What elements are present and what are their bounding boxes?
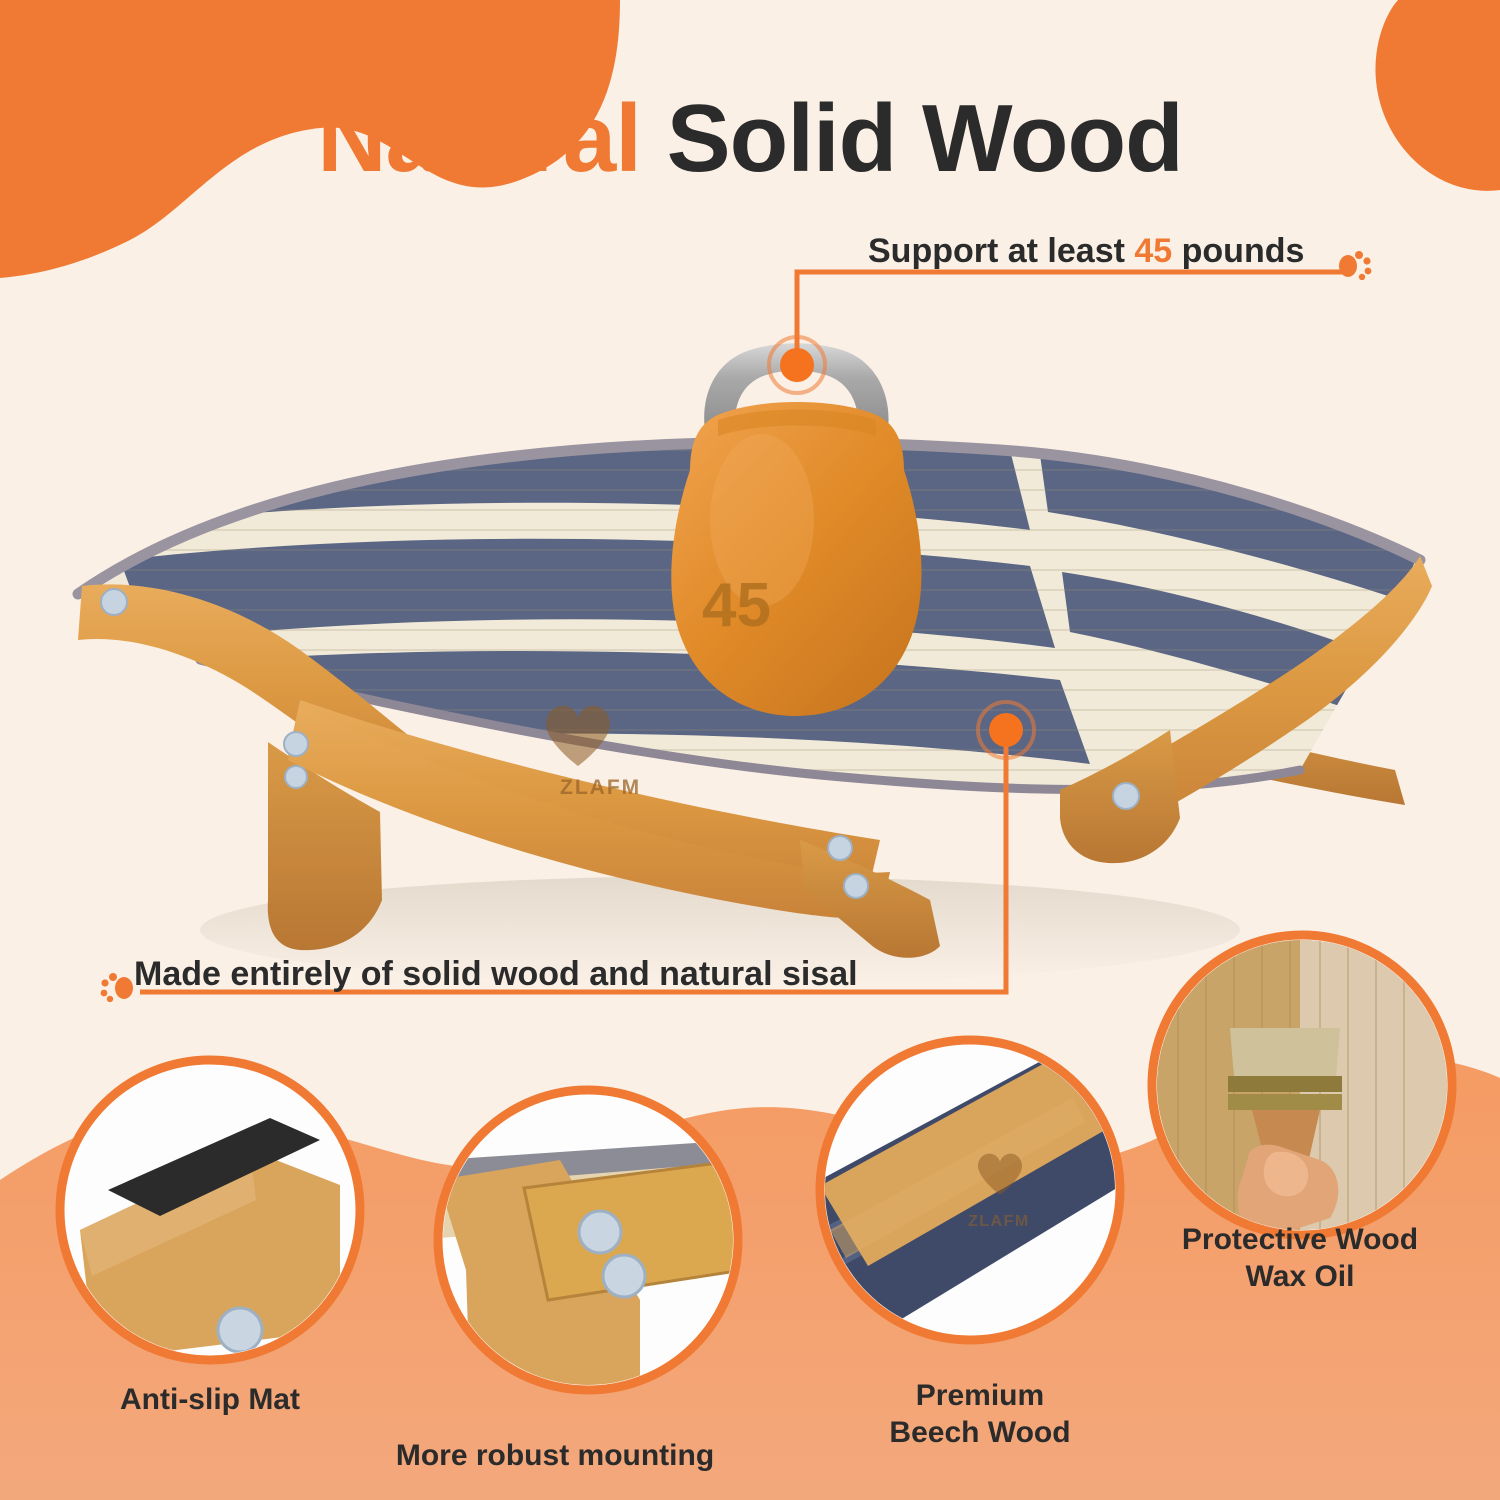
feature-label-beech-wood: Premium Beech Wood: [790, 1378, 1170, 1451]
callout-label-support: Support at least 45 pounds: [868, 232, 1304, 271]
headline-accent: Natural: [317, 85, 641, 192]
paw-icon-right: [1338, 250, 1372, 280]
brand-logo-text: ZLAFM: [560, 776, 641, 799]
feature-label-anti-slip-mat: Anti-slip Mat: [30, 1382, 390, 1419]
kettlebell-weight-label: 45: [702, 571, 771, 640]
paw-icon-left: [100, 972, 134, 1002]
callout-dot-materials: [989, 713, 1023, 747]
headline-rest: Solid Wood: [667, 85, 1183, 192]
feature-circle-anti-slip-mat: [60, 1060, 360, 1360]
svg-text:ZLAFM: ZLAFM: [968, 1213, 1030, 1230]
callout-support-before: Support at least: [868, 232, 1134, 270]
callout-label-materials: Made entirely of solid wood and natural …: [134, 955, 858, 994]
page-title: Natural Solid Wood: [0, 84, 1500, 194]
callout-support-after: pounds: [1172, 232, 1304, 270]
callout-support-number: 45: [1134, 232, 1172, 270]
callout-dot-support: [780, 348, 814, 382]
feature-label-wax-oil: Protective Wood Wax Oil: [1105, 1222, 1495, 1295]
feature-circle-wax-oil: [1152, 935, 1452, 1240]
infographic-canvas: ZLAFM 45: [0, 0, 1500, 1500]
feature-label-mounting: More robust mounting: [330, 1438, 780, 1475]
